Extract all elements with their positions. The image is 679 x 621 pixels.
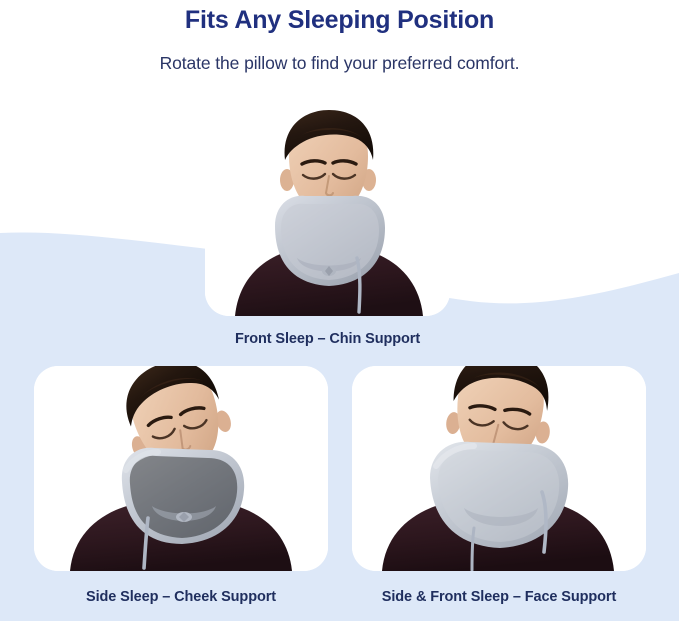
caption-front-sleep: Front Sleep – Chin Support <box>205 330 450 348</box>
photo-card-side-front-sleep[interactable] <box>352 366 646 571</box>
photo-card-front-sleep[interactable] <box>205 108 450 316</box>
photo-card-side-sleep[interactable] <box>34 366 328 571</box>
caption-side-front-sleep: Side & Front Sleep – Face Support <box>352 588 646 606</box>
page-subtitle: Rotate the pillow to find your preferred… <box>0 35 679 74</box>
header: Fits Any Sleeping Position Rotate the pi… <box>0 0 679 74</box>
page-title: Fits Any Sleeping Position <box>0 0 679 35</box>
product-feature-panel: Fits Any Sleeping Position Rotate the pi… <box>0 0 679 621</box>
photo-front-sleep <box>205 108 450 316</box>
caption-side-sleep: Side Sleep – Cheek Support <box>34 588 328 606</box>
photo-side-front-sleep <box>352 366 646 571</box>
photo-side-sleep <box>34 366 328 571</box>
